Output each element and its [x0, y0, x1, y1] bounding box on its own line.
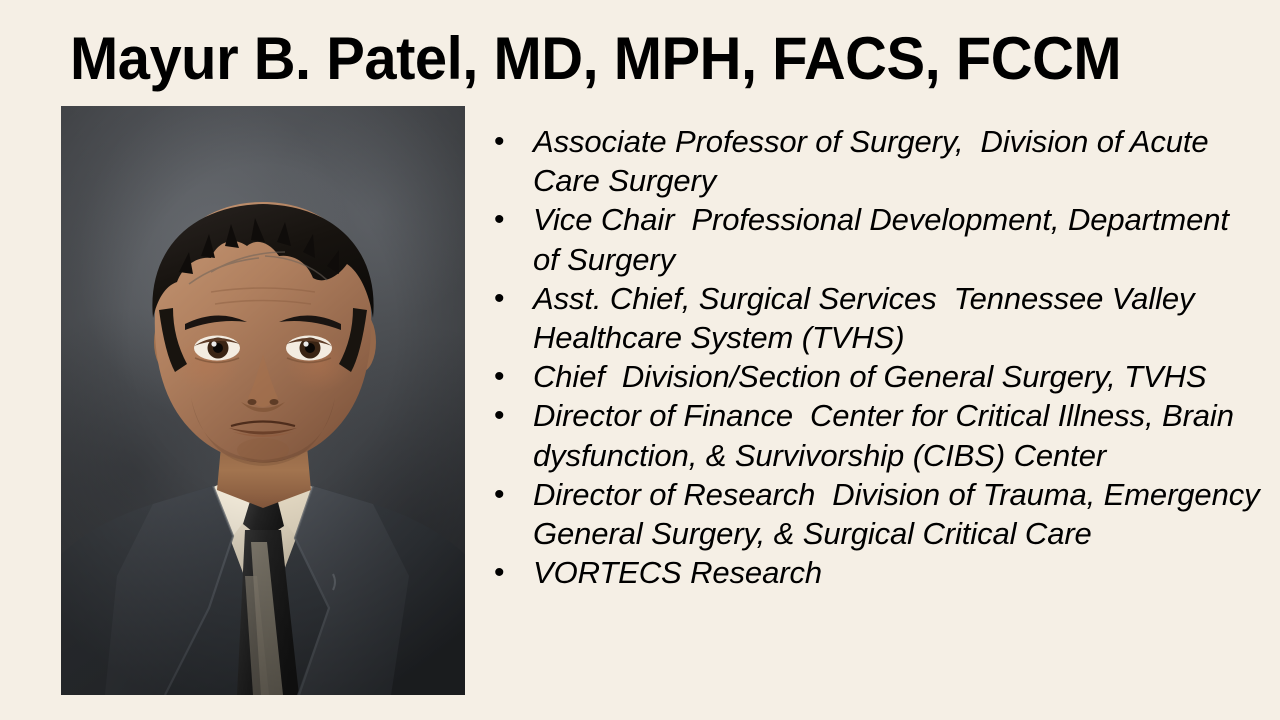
list-item: • Director of Research Division of Traum…: [487, 475, 1262, 553]
list-item-text: Asst. Chief, Surgical Services Tennessee…: [533, 279, 1262, 357]
presentation-slide: Mayur B. Patel, MD, MPH, FACS, FCCM: [0, 0, 1280, 720]
list-item-text: Vice Chair Professional Development, Dep…: [533, 200, 1262, 278]
list-item-text: Associate Professor of Surgery, Division…: [533, 122, 1262, 200]
list-item: • Associate Professor of Surgery, Divisi…: [487, 122, 1262, 200]
list-item: • Vice Chair Professional Development, D…: [487, 200, 1262, 278]
list-item-text: Director of Finance Center for Critical …: [533, 396, 1262, 474]
bullet-marker: •: [487, 553, 533, 592]
list-item-text: Chief Division/Section of General Surger…: [533, 357, 1262, 396]
bullet-marker: •: [487, 475, 533, 514]
list-item-text: VORTECS Research: [533, 553, 1262, 592]
portrait-photo: [61, 106, 465, 695]
photo-vignette: [61, 106, 465, 695]
bullet-marker: •: [487, 357, 533, 396]
list-item: • VORTECS Research: [487, 553, 1262, 592]
list-item-text: Director of Research Division of Trauma,…: [533, 475, 1262, 553]
bullet-marker: •: [487, 122, 533, 161]
bullet-marker: •: [487, 396, 533, 435]
list-item: • Asst. Chief, Surgical Services Tenness…: [487, 279, 1262, 357]
bullet-marker: •: [487, 279, 533, 318]
bullet-marker: •: [487, 200, 533, 239]
list-item: • Director of Finance Center for Critica…: [487, 396, 1262, 474]
credentials-list: • Associate Professor of Surgery, Divisi…: [487, 122, 1262, 592]
slide-title: Mayur B. Patel, MD, MPH, FACS, FCCM: [70, 22, 1189, 98]
list-item: • Chief Division/Section of General Surg…: [487, 357, 1262, 396]
